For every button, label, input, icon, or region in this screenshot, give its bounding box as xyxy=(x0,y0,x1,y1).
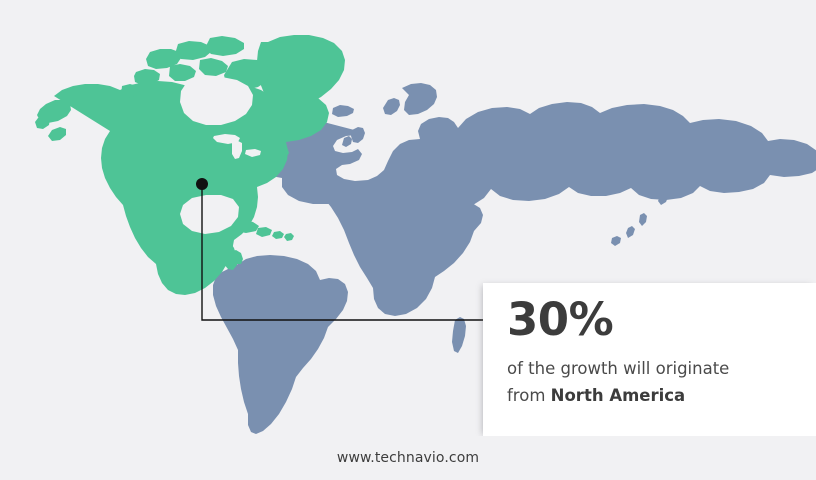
infographic-stage: 30% of the growth will originate from No… xyxy=(0,0,816,480)
card-description-line-2-prefix: from xyxy=(507,386,551,405)
footer-url[interactable]: www.technavio.com xyxy=(337,450,479,466)
card-description-emphasis: North America xyxy=(551,386,686,405)
card-description-line-1: of the growth will originate xyxy=(507,356,816,383)
info-card: 30% of the growth will originate from No… xyxy=(483,283,816,436)
card-description-line-2: from North America xyxy=(507,383,816,410)
footer: www.technavio.com xyxy=(0,436,816,480)
card-description: of the growth will originate from North … xyxy=(507,356,816,409)
percent-value: 30% xyxy=(507,297,816,342)
